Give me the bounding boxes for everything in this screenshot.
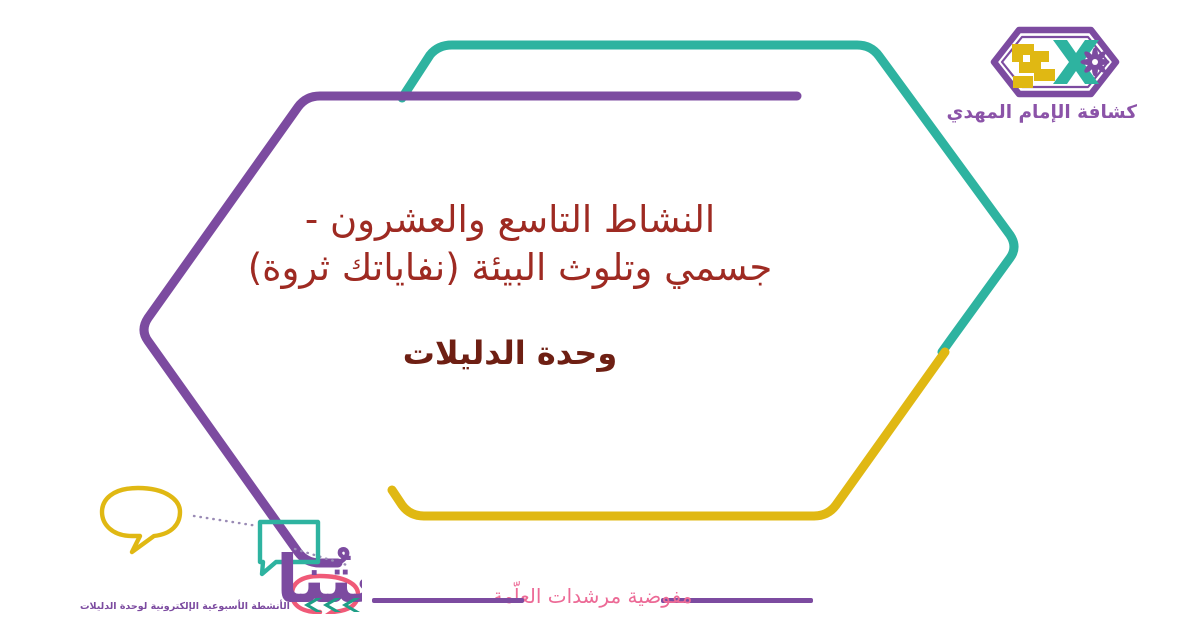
bar-rule-left: [372, 598, 524, 603]
bottom-bar: مفوضية مرشدات العاّمة: [0, 584, 1185, 614]
scouts-organization-name: كشافة الإمام المهدي: [972, 102, 1137, 123]
commission-label: مفوضية مرشدات العاّمة: [493, 584, 693, 608]
unit-subtitle: وحدة الدليلات: [180, 334, 840, 372]
scouts-logo: كشافة الإمام المهدي: [972, 26, 1137, 123]
banner-canvas: النشاط التاسع والعشرون - جسمي وتلوث البي…: [0, 0, 1185, 642]
title-line-2: جسمي وتلوث البيئة (نفاياتك ثروة): [180, 244, 840, 292]
title-line-1: النشاط التاسع والعشرون -: [180, 196, 840, 244]
speech-bubble-yellow-icon: [102, 488, 180, 552]
hexagon-edge-gold: [392, 352, 945, 516]
headline-block: النشاط التاسع والعشرون - جسمي وتلوث البي…: [180, 196, 840, 373]
scouts-hexagon-emblem-icon: [989, 26, 1121, 98]
